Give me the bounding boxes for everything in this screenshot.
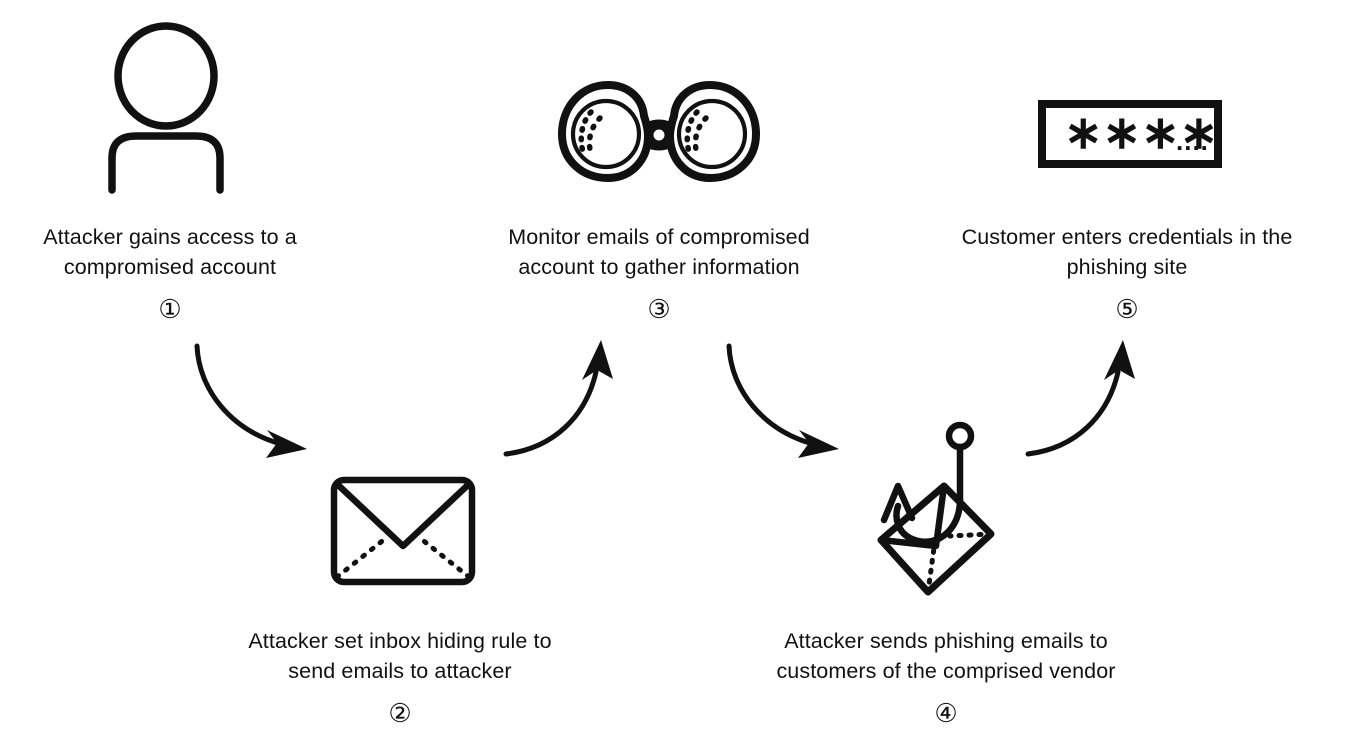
arrow-step3-to-step4 xyxy=(717,338,857,458)
step-2-caption: Attacker set inbox hiding rule to send e… xyxy=(179,626,621,686)
step-3-caption: Monitor emails of compromised account to… xyxy=(438,222,880,282)
step-2-badge: ② xyxy=(179,700,621,726)
envelope-icon xyxy=(330,476,476,586)
arrow-step1-to-step2 xyxy=(185,338,325,458)
step-1-caption: Attacker gains access to a compromised a… xyxy=(0,222,340,282)
step-1-badge: ① xyxy=(0,296,340,322)
step-5-badge: ⑤ xyxy=(906,296,1348,322)
step-3-badge: ③ xyxy=(438,296,880,322)
diagram-canvas: Attacker gains access to a compromised a… xyxy=(0,0,1348,749)
arrow-step4-to-step5 xyxy=(1022,338,1147,460)
step-5-caption: Customer enters credentials in the phish… xyxy=(906,222,1348,282)
password-trailing-dots: .... xyxy=(1176,126,1209,156)
step-4-caption: Attacker sends phishing emails to custom… xyxy=(712,626,1180,686)
arrow-step2-to-step3 xyxy=(500,338,625,460)
password-field-icon: ∗∗∗∗ .... xyxy=(1038,100,1222,168)
phishing-envelope-hook-icon xyxy=(858,422,1010,606)
person-icon xyxy=(88,18,248,193)
step-4-badge: ④ xyxy=(712,700,1180,726)
binoculars-icon xyxy=(556,82,762,186)
